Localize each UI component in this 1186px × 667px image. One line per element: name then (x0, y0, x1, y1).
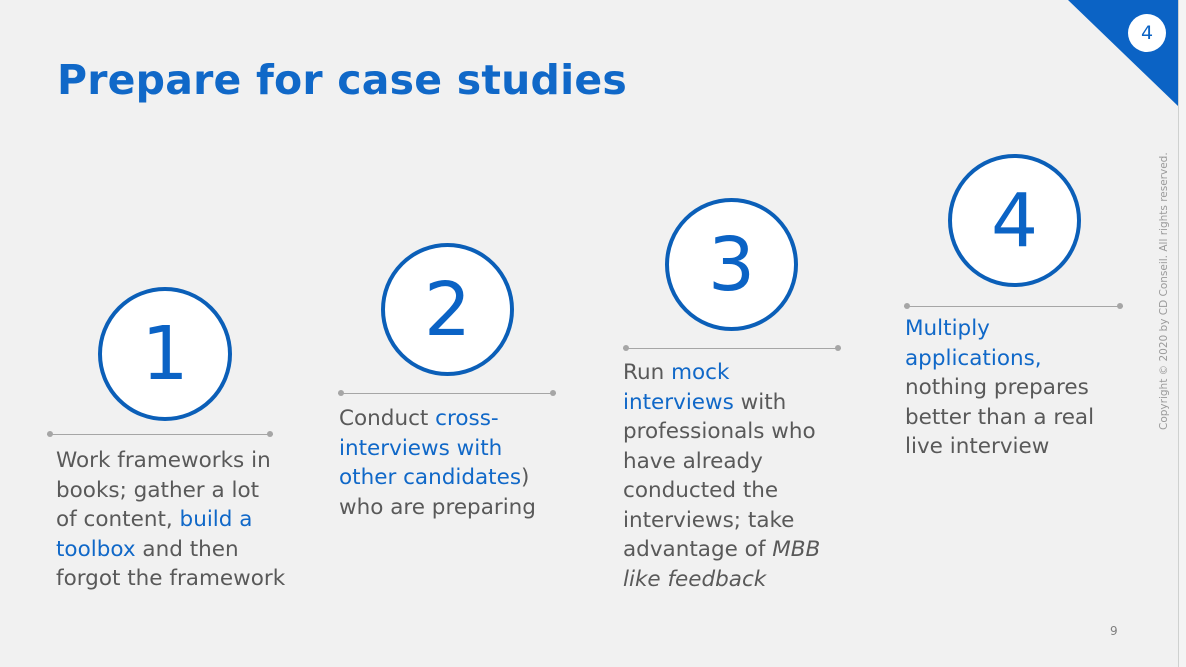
connector-dot-right (1117, 303, 1123, 309)
connector-bar (904, 306, 1123, 307)
step-number-circle-3: 3 (665, 198, 798, 331)
page-number: 9 (1110, 624, 1118, 638)
connector-dot-left (904, 303, 910, 309)
step-number-circle-4: 4 (948, 154, 1081, 287)
connector-dot-right (550, 390, 556, 396)
text-segment: Run (623, 360, 671, 385)
step-number-circle-1: 1 (98, 287, 232, 421)
connector-dot-left (623, 345, 629, 351)
connector-bar (338, 393, 556, 394)
corner-triangle-decoration (1068, 0, 1178, 106)
connector-dot-right (267, 431, 273, 437)
connector-dot-right (835, 345, 841, 351)
text-segment: Conduct (339, 406, 435, 431)
right-margin-strip (1179, 0, 1186, 667)
connector-dot-left (47, 431, 53, 437)
text-segment-highlight: Multiply applications, (905, 316, 1042, 371)
step-body-text-2: Conduct cross-interviews with other cand… (339, 404, 565, 522)
step-number-circle-2: 2 (381, 243, 514, 376)
connector-dot-left (338, 390, 344, 396)
copyright-notice: Copyright © 2020 by CD Conseil. All righ… (1158, 152, 1170, 430)
step-connector-line-1 (47, 431, 273, 438)
step-connector-line-4 (904, 303, 1123, 310)
right-edge-divider (1178, 0, 1179, 667)
slide-canvas: 4 Prepare for case studies 1 Work framew… (0, 0, 1186, 667)
connector-bar (623, 348, 841, 349)
section-number-badge: 4 (1128, 14, 1166, 52)
step-body-text-4: Multiply applications, nothing prepares … (905, 314, 1120, 462)
page-title: Prepare for case studies (57, 56, 627, 104)
step-connector-line-2 (338, 390, 556, 397)
step-body-text-3: Run mock interviews with professionals w… (623, 358, 838, 594)
text-segment: nothing prepares better than a real live… (905, 375, 1094, 459)
connector-bar (47, 434, 273, 435)
step-connector-line-3 (623, 345, 841, 352)
step-body-text-1: Work frameworks in books; gather a lot o… (56, 446, 286, 594)
